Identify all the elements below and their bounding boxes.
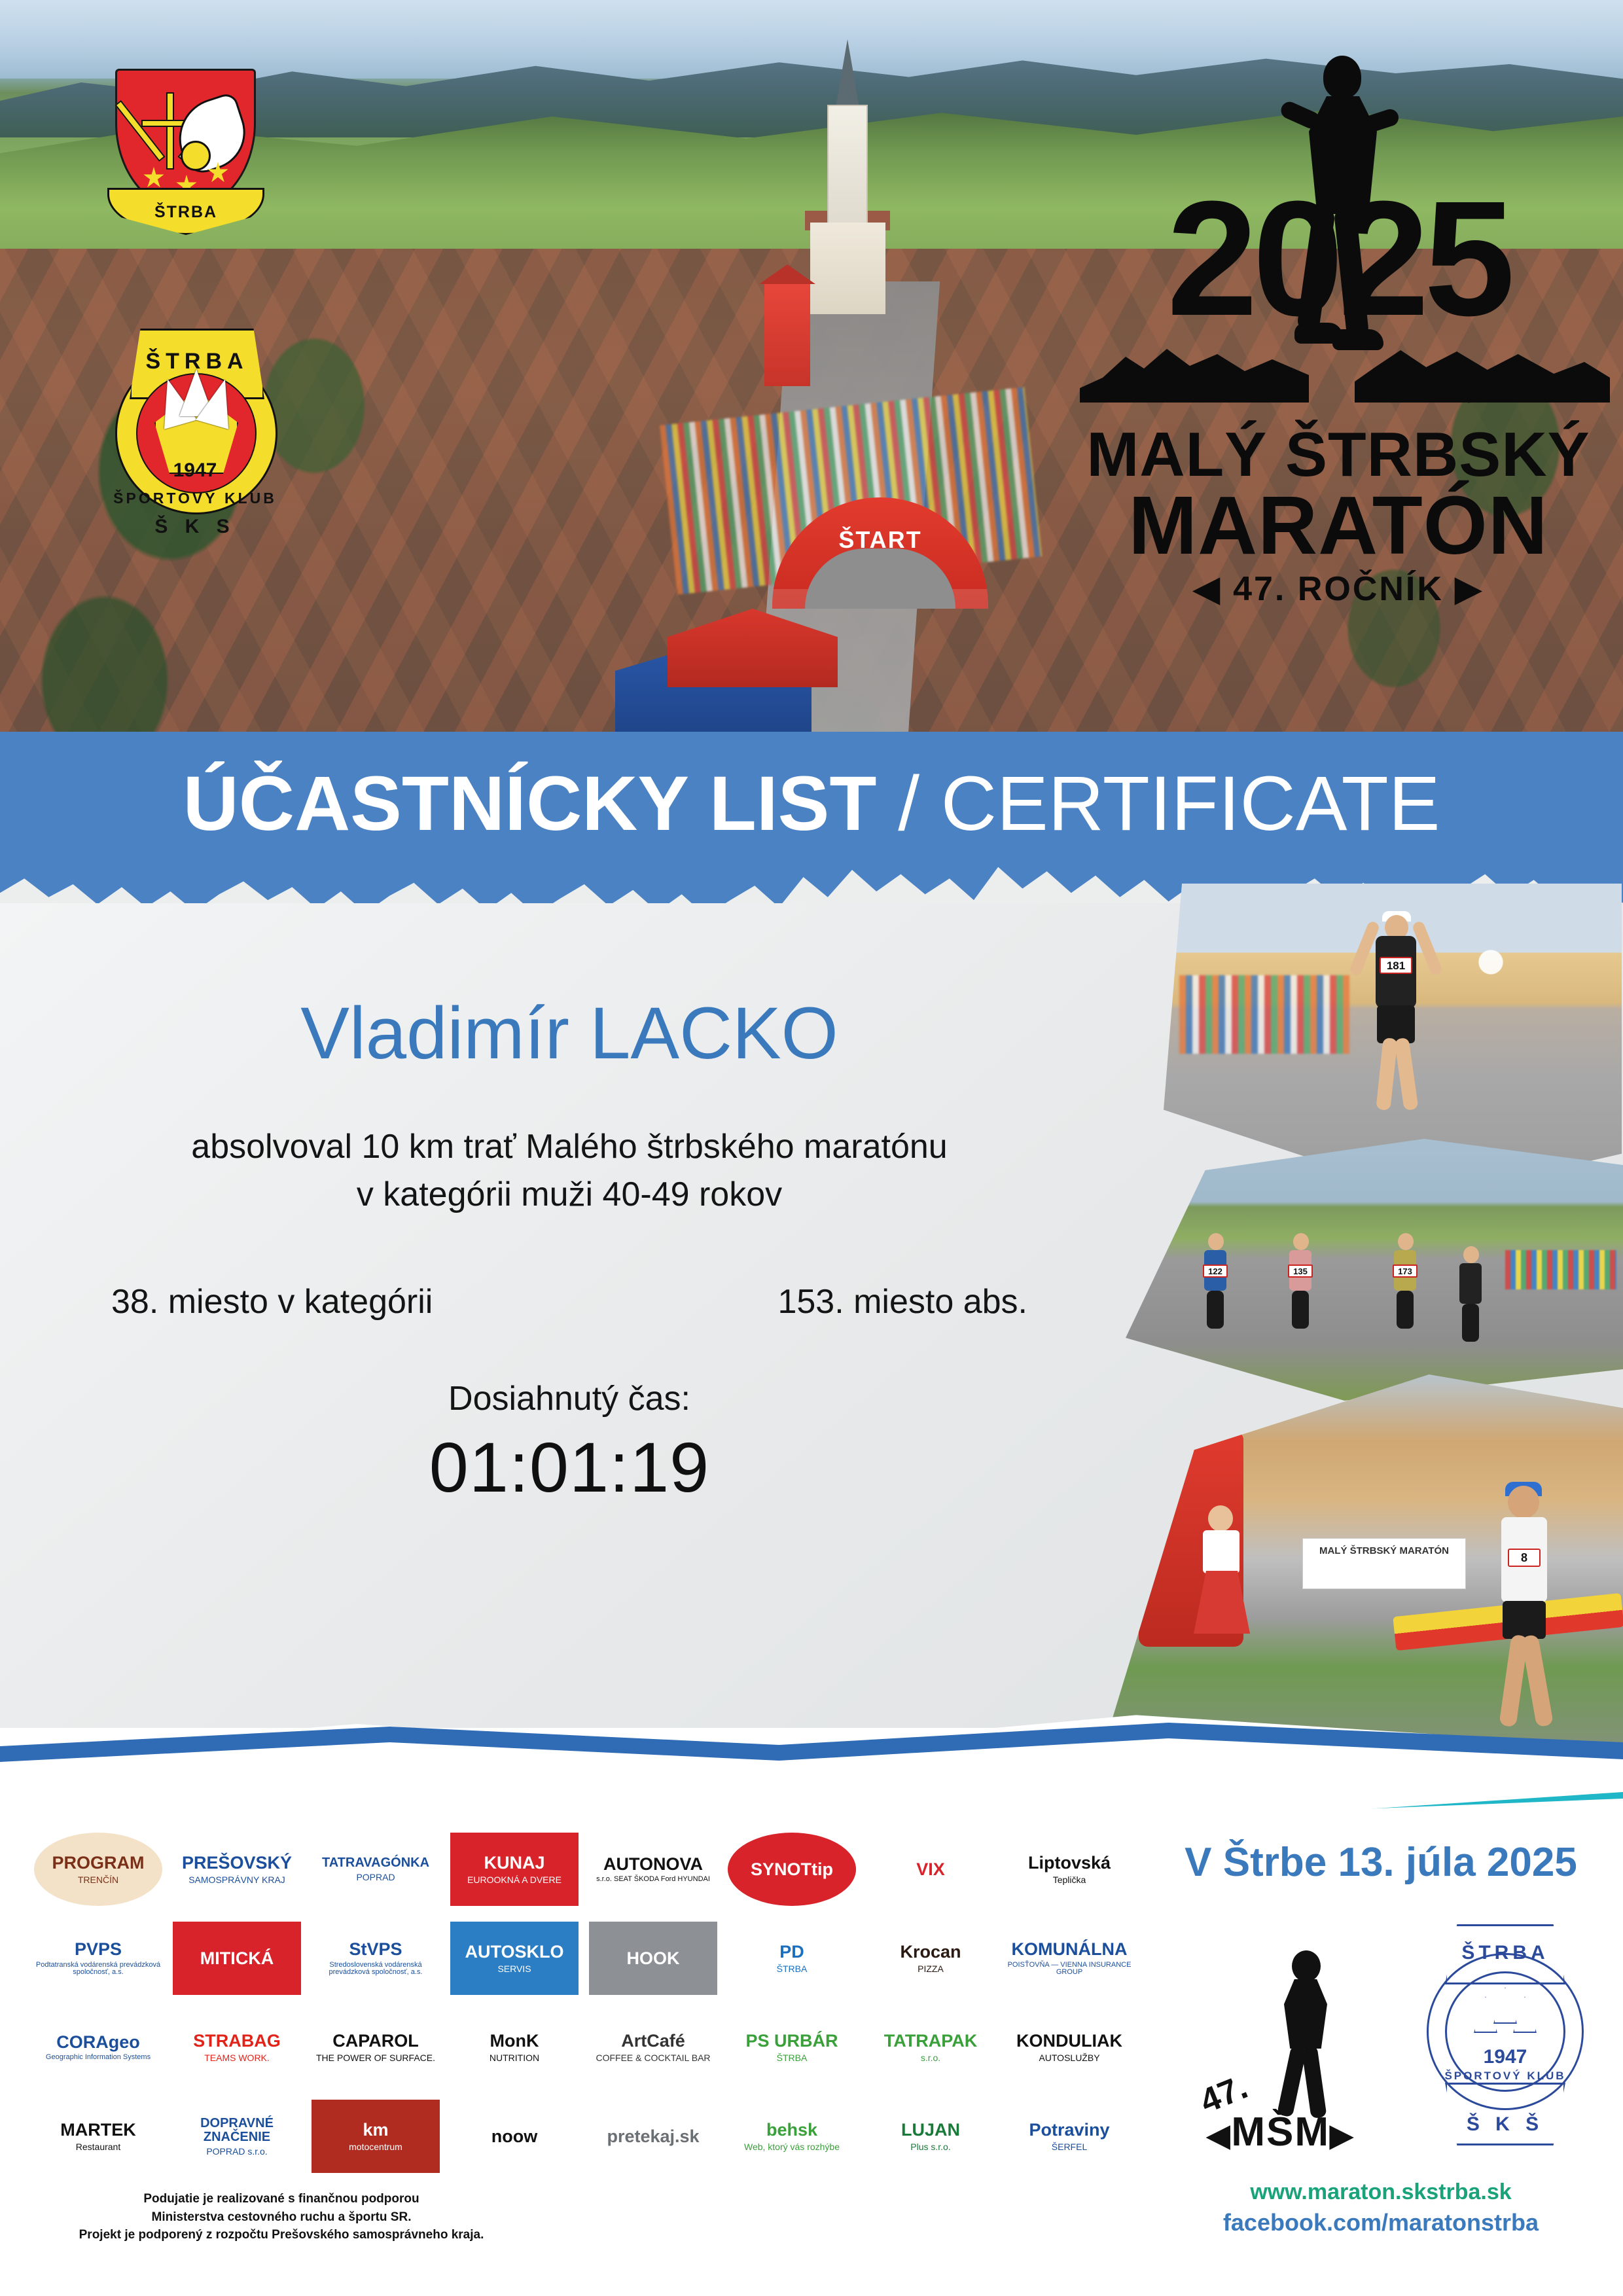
sponsor-logo: KrocanPIZZA (866, 1922, 995, 1995)
sponsor-logo: ArtCaféCOFFEE & COCKTAIL BAR (589, 2011, 717, 2084)
photo2-bib-number: 135 (1288, 1265, 1313, 1278)
sponsor-name: STRABAG (193, 2032, 281, 2050)
sponsor-logo: SYNOTtip (728, 1833, 856, 1906)
sponsor-logo: PotravinyŠERFEL (1005, 2100, 1133, 2173)
certificate-description: absolvoval 10 km trať Malého štrbského m… (0, 1123, 1139, 1220)
sponsor-name: TATRAPAK (884, 2032, 977, 2050)
sponsor-logo: pretekaj.sk (589, 2100, 717, 2173)
website-link[interactable]: www.maraton.skstrba.sk (1152, 2179, 1610, 2205)
sponsor-name: PREŠOVSKÝ (182, 1854, 292, 1872)
sponsor-name: HOOK (627, 1949, 680, 1967)
sponsor-tagline: PIZZA (918, 1964, 944, 1974)
photo3-banner-text: MALÝ ŠTRBSKÝ MARATÓN (1302, 1538, 1466, 1589)
crest-ribbon: ŠTRBA (107, 188, 264, 235)
sponsor-tagline: EUROOKNÁ A DVERE (467, 1875, 562, 1885)
time-label: Dosiahnutý čas: (0, 1379, 1139, 1418)
sponsor-grid: PROGRAMTRENČÍNPREŠOVSKÝSAMOSPRÁVNY KRAJT… (34, 1833, 1147, 2199)
sponsor-logo: CORAgeoGeographic Information Systems (34, 2011, 162, 2084)
sponsor-logo: STRABAGTEAMS WORK. (173, 2011, 301, 2084)
certificate-page: ŠTRBA ŠTRBA 1947 ŠPORTOVÝ KLUB Š K S 202… (0, 0, 1623, 2296)
sponsor-logo: StVPSStredoslovenská vodárenská prevádzk… (312, 1922, 440, 1995)
club-stamp: ŠTRBA 1947 ŠPORTOVÝ KLUB Š K Š (1414, 1918, 1597, 2153)
sponsor-logo: PROGRAMTRENČÍN (34, 1833, 162, 1906)
page-title-light: CERTIFICATE (941, 761, 1440, 847)
sponsor-name: MARTEK (60, 2121, 136, 2139)
marathon-branding: 2025 31 km 10 km MALÝ ŠTRBSKÝ MARATÓN 47… (1067, 46, 1610, 583)
stamp-top-label: ŠTRBA (1447, 1942, 1563, 1964)
sponsor-tagline: s.r.o. (921, 2053, 940, 2063)
sks-club-logo: ŠTRBA 1947 ŠPORTOVÝ KLUB Š K S (103, 329, 287, 538)
stamp-top-banner: ŠTRBA (1445, 1924, 1565, 1984)
fineprint-line-3: Projekt je podporený z rozpočtu Prešovsk… (39, 2226, 524, 2244)
sponsor-tagline: SERVIS (497, 1964, 531, 1974)
sponsor-tagline: Stredoslovenská vodárenská prevádzková s… (313, 1962, 438, 1977)
sponsor-tagline: TEAMS WORK. (204, 2053, 270, 2063)
mountain-peaks-icon (1471, 1987, 1539, 2043)
sponsor-tagline: AUTOSLUŽBY (1039, 2053, 1099, 2063)
cross-vertical-icon (166, 92, 174, 170)
stamp-year: 1947 (1414, 2046, 1597, 2068)
sponsor-name: CAPAROL (332, 2032, 419, 2050)
cuff-icon (181, 141, 211, 171)
sponsor-tagline: NUTRITION (490, 2053, 539, 2063)
logo-arc-label: ŠPORTOVÝ KLUB (103, 490, 287, 507)
stamp-arc-label: ŠPORTOVÝ KLUB (1414, 2070, 1597, 2083)
fineprint-line-1: Podujatie je realizované s finančnou pod… (39, 2190, 524, 2208)
sponsor-tagline: ŠERFEL (1052, 2142, 1087, 2152)
sponsor-logo: LUJANPlus s.r.o. (866, 2100, 995, 2173)
sponsor-name: noow (491, 2127, 537, 2145)
sponsor-tagline: POISŤOVŇA — VIENNA INSURANCE GROUP (1007, 1962, 1132, 1977)
sponsor-logo: MARTEKRestaurant (34, 2100, 162, 2173)
sponsor-tagline: Podtatranská vodárenská prevádzková spol… (35, 1962, 161, 1977)
sponsor-name: LUJAN (901, 2121, 960, 2139)
sponsor-name: KOMUNÁLNA (1012, 1940, 1128, 1958)
sponsor-tagline: Restaurant (76, 2142, 120, 2152)
brand-line2: MARATÓN (1067, 478, 1610, 573)
facebook-link[interactable]: facebook.com/maratonstrba (1152, 2209, 1610, 2236)
church-icon (805, 39, 890, 314)
sponsor-name: Liptovská (1028, 1854, 1111, 1872)
sponsor-logo: kmmotocentrum (312, 2100, 440, 2173)
sponsor-logo: PVPSPodtatranská vodárenská prevádzková … (34, 1922, 162, 1995)
crest-ribbon-label: ŠTRBA (109, 203, 262, 222)
sponsor-logo: PS URBÁRŠTRBA (728, 2011, 856, 2084)
sponsor-tagline: SAMOSPRÁVNY KRAJ (188, 1875, 285, 1885)
sponsor-logo: KONDULIAKAUTOSLUŽBY (1005, 2011, 1133, 2084)
sponsor-name: TATRAVAGÓNKA (322, 1856, 429, 1870)
sponsor-logo: PREŠOVSKÝSAMOSPRÁVNY KRAJ (173, 1833, 301, 1906)
sponsor-logo: VIX (866, 1833, 995, 1906)
sponsor-name: MonK (490, 2032, 539, 2050)
sponsor-logo: PDŠTRBA (728, 1922, 856, 1995)
sponsor-logo: AUTONOVAs.r.o. SEAT ŠKODA Ford HYUNDAI (589, 1833, 717, 1906)
sponsor-logo: DOPRAVNÉ ZNAČENIEPOPRAD s.r.o. (173, 2100, 301, 2173)
photo1-bib-number: 181 (1380, 957, 1412, 974)
sponsor-name: KUNAJ (484, 1854, 544, 1872)
funding-fineprint: Podujatie je realizované s finančnou pod… (39, 2190, 524, 2244)
sponsor-logo: noow (450, 2100, 579, 2173)
sponsor-name: KONDULIAK (1016, 2032, 1122, 2050)
time-value: 01:01:19 (0, 1426, 1139, 1508)
sponsor-name: PROGRAM (52, 1854, 145, 1872)
sponsor-tagline: motocentrum (349, 2142, 402, 2152)
sponsor-name: Potraviny (1029, 2121, 1109, 2139)
photo2-bib-number: 122 (1203, 1265, 1228, 1278)
sponsor-logo: AUTOSKLOSERVIS (450, 1922, 579, 1995)
sponsor-name: CORAgeo (56, 2033, 140, 2051)
participant-name: Vladimír LACKO (0, 995, 1139, 1072)
sponsor-tagline: ŠTRBA (777, 2053, 808, 2063)
sponsor-tagline: Geographic Information Systems (46, 2054, 151, 2062)
sponsor-tagline: THE POWER OF SURFACE. (316, 2053, 435, 2063)
sponsor-tagline: Web, ktorý vás rozhýbe (744, 2142, 840, 2152)
sponsor-name: DOPRAVNÉ ZNAČENIE (173, 2117, 301, 2144)
runner-pack (1505, 1250, 1616, 1289)
sponsor-logo: TATRAVAGÓNKAPOPRAD (312, 1833, 440, 1906)
sponsor-logo: KOMUNÁLNAPOISŤOVŇA — VIENNA INSURANCE GR… (1005, 1922, 1133, 1995)
sponsor-logo: KUNAJEUROOKNÁ A DVERE (450, 1833, 579, 1906)
sponsor-name: SYNOTtip (751, 1860, 833, 1878)
brand-edition: 47. ROČNÍK (1067, 569, 1610, 609)
sponsor-name: pretekaj.sk (607, 2127, 699, 2145)
stamp-bottom-banner: Š K Š (1445, 2083, 1565, 2145)
sponsor-tagline: ŠTRBA (777, 1964, 808, 1974)
description-line-2: v kategórii muži 40-49 rokov (0, 1171, 1139, 1219)
sponsor-logo: TATRAPAKs.r.o. (866, 2011, 995, 2084)
fineprint-line-2: Ministerstva cestovného ruchu a športu S… (39, 2208, 524, 2227)
sponsor-logo: behskWeb, ktorý vás rozhýbe (728, 2100, 856, 2173)
sponsor-name: km (363, 2121, 388, 2139)
sponsor-name: StVPS (349, 1940, 402, 1958)
sponsor-tagline: TRENČÍN (78, 1875, 118, 1885)
msm-emblem: 47. MŠM (1198, 1937, 1394, 2173)
sponsor-logo: MITICKÁ (173, 1922, 301, 1995)
photo-runners-hill: 122 135 173 (1126, 1139, 1623, 1401)
sponsor-tagline: Teplička (1053, 1875, 1086, 1885)
photo3-bib-number: 8 (1508, 1549, 1541, 1567)
sponsor-name: MITICKÁ (200, 1949, 274, 1967)
sponsor-name: AUTONOVA (603, 1855, 703, 1873)
sponsor-logo: LiptovskáTeplička (1005, 1833, 1133, 1906)
logo-year: 1947 (103, 459, 287, 482)
sponsor-name: ArtCafé (621, 2032, 685, 2050)
runner-icon (1270, 1950, 1342, 2114)
sponsor-name: behsk (766, 2121, 817, 2139)
strba-coat-of-arms: ŠTRBA (115, 69, 256, 236)
certificate-content: Vladimír LACKO absolvoval 10 km trať Mal… (0, 995, 1139, 1508)
sponsor-name: AUTOSKLO (465, 1943, 563, 1961)
contact-links: www.maraton.skstrba.sk facebook.com/mara… (1152, 2179, 1610, 2236)
sponsor-tagline: Plus s.r.o. (910, 2142, 950, 2152)
runner-silhouette-icon (1283, 56, 1400, 370)
sponsor-logo: HOOK (589, 1922, 717, 1995)
issue-date: V Štrbe 13. júla 2025 (1158, 1839, 1603, 1886)
place-category: 38. miesto v kategórii (111, 1282, 433, 1321)
page-title-bold: ÚČASTNÍCKY LIST (183, 761, 877, 847)
sponsor-logo: CAPAROLTHE POWER OF SURFACE. (312, 2011, 440, 2084)
placements: 38. miesto v kategórii 153. miesto abs. (0, 1282, 1139, 1321)
photo-collage: 181 122 135 173 MALÝ ŠTRBSKÝ MARATÓN (1113, 877, 1623, 1826)
page-title-sep: / (876, 761, 940, 847)
folk-costume-girl (1186, 1505, 1258, 1649)
stamp-abbrev: Š K Š (1447, 2113, 1563, 2136)
sponsor-logo: MonKNUTRITION (450, 2011, 579, 2084)
photo2-bib-number: 173 (1393, 1265, 1418, 1278)
sponsor-tagline: POPRAD (356, 1873, 395, 1882)
sponsor-tagline: s.r.o. SEAT ŠKODA Ford HYUNDAI (596, 1876, 710, 1884)
msm-abbrev: MŠM (1207, 2109, 1354, 2155)
description-line-1: absolvoval 10 km trať Malého štrbského m… (0, 1123, 1139, 1172)
page-title: ÚČASTNÍCKY LIST / CERTIFICATE (0, 759, 1623, 848)
sponsor-name: PD (779, 1943, 804, 1961)
sponsor-tagline: COFFEE & COCKTAIL BAR (596, 2053, 710, 2063)
logo-abbrev: Š K S (103, 516, 287, 538)
sponsor-name: PVPS (75, 1940, 122, 1958)
place-absolute: 153. miesto abs. (777, 1282, 1027, 1321)
sponsor-tagline: POPRAD s.r.o. (206, 2147, 267, 2157)
sponsor-name: VIX (916, 1860, 945, 1878)
winning-runner: 8 (1479, 1486, 1577, 1761)
sponsor-name: Krocan (900, 1943, 961, 1961)
sponsor-name: PS URBÁR (745, 2032, 838, 2050)
clock-tower (764, 281, 810, 386)
